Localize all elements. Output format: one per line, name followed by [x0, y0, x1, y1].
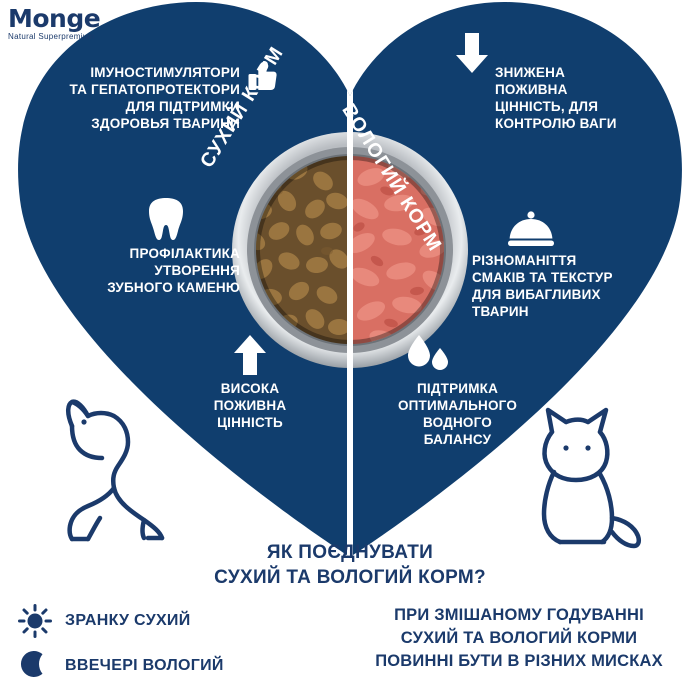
- callout-variety-line3: ДЛЯ ВИБАГЛИВИХ: [472, 286, 667, 303]
- callout-tartar-line3: ЗУБНОГО КАМЕНЮ: [50, 279, 240, 296]
- callout-low-calorie-line1: ЗНИЖЕНА: [495, 64, 680, 81]
- callout-immune-line3: ДЛЯ ПІДТРИМКИ: [60, 98, 240, 115]
- callout-hydration-line1: ПІДТРИМКА: [375, 380, 540, 397]
- question-line2: СУХИЙ ТА ВОЛОГИЙ КОРМ?: [0, 565, 700, 590]
- callout-variety: РІЗНОМАНІТТЯ СМАКІВ ТА ТЕКСТУР ДЛЯ ВИБАГ…: [472, 252, 667, 320]
- callout-immune-line4: ЗДОРОВЬЯ ТВАРИНИ: [60, 115, 240, 132]
- callout-variety-line1: РІЗНОМАНІТТЯ: [472, 252, 667, 269]
- arrow-down-icon: [455, 32, 489, 79]
- callout-low-calorie: ЗНИЖЕНА ПОЖИВНА ЦІННІСТЬ, ДЛЯ КОНТРОЛЮ В…: [495, 64, 680, 132]
- note-line2: СУХИЙ ТА ВОЛОГИЙ КОРМИ: [345, 627, 693, 650]
- plus-cross-icon: [314, 0, 386, 62]
- note-line1: ПРИ ЗМІШАНОМУ ГОДУВАННІ: [345, 604, 693, 627]
- note-line3: ПОВИННІ БУТИ В РІЗНИХ МИСКАХ: [345, 650, 693, 673]
- callout-variety-line4: ТВАРИН: [472, 303, 667, 320]
- tip-morning: ЗРАНКУ СУХИЙ: [18, 604, 318, 638]
- callout-high-nutrition-line2: ПОЖИВНА: [180, 397, 320, 414]
- callout-high-nutrition: ВИСОКА ПОЖИВНА ЦІННІСТЬ: [180, 380, 320, 431]
- callout-high-nutrition-line1: ВИСОКА: [180, 380, 320, 397]
- water-drops-icon: [404, 333, 452, 380]
- callout-immune: ІМУНОСТИМУЛЯТОРИ ТА ГЕПАТОПРОТЕКТОРИ ДЛЯ…: [60, 64, 240, 132]
- infographic-root: Monge Natural Superpremium: [0, 0, 700, 700]
- callout-low-calorie-line2: ПОЖИВНА: [495, 81, 680, 98]
- tip-morning-label: ЗРАНКУ СУХИЙ: [65, 612, 191, 630]
- question-block: ЯК ПОЄДНУВАТИ СУХИЙ ТА ВОЛОГИЙ КОРМ?: [0, 540, 700, 590]
- callout-low-calorie-line4: КОНТРОЛЮ ВАГИ: [495, 115, 680, 132]
- brand-name: Monge: [8, 6, 138, 31]
- arrow-up-icon: [233, 334, 267, 381]
- callout-tartar-line2: УТВОРЕННЯ: [50, 262, 240, 279]
- brand-logo: Monge Natural Superpremium: [8, 6, 138, 41]
- brand-tagline: Natural Superpremium: [8, 32, 138, 41]
- cloche-icon: [508, 210, 554, 253]
- callout-high-nutrition-line3: ЦІННІСТЬ: [180, 414, 320, 431]
- cat-outline-icon: [508, 404, 648, 554]
- tip-evening-label: ВВЕЧЕРІ ВОЛОГИЙ: [65, 657, 224, 675]
- dog-outline-icon: [48, 396, 188, 551]
- feeding-tips: ЗРАНКУ СУХИЙ ВВЕЧЕРІ ВОЛОГИЙ: [18, 604, 318, 694]
- callout-variety-line2: СМАКІВ ТА ТЕКСТУР: [472, 269, 667, 286]
- tip-evening: ВВЕЧЕРІ ВОЛОГИЙ: [18, 649, 318, 683]
- callout-low-calorie-line3: ЦІННІСТЬ, ДЛЯ: [495, 98, 680, 115]
- tooth-icon: [147, 196, 185, 247]
- callout-tartar-line1: ПРОФІЛАКТИКА: [50, 245, 240, 262]
- question-line1: ЯК ПОЄДНУВАТИ: [0, 540, 700, 565]
- thumbs-up-icon: [247, 58, 281, 97]
- callout-tartar: ПРОФІЛАКТИКА УТВОРЕННЯ ЗУБНОГО КАМЕНЮ: [50, 245, 240, 296]
- sun-icon: [18, 604, 52, 638]
- moon-icon: [18, 649, 52, 683]
- callout-immune-line2: ТА ГЕПАТОПРОТЕКТОРИ: [60, 81, 240, 98]
- mixed-feeding-note: ПРИ ЗМІШАНОМУ ГОДУВАННІ СУХИЙ ТА ВОЛОГИЙ…: [345, 604, 693, 673]
- callout-immune-line1: ІМУНОСТИМУЛЯТОРИ: [60, 64, 240, 81]
